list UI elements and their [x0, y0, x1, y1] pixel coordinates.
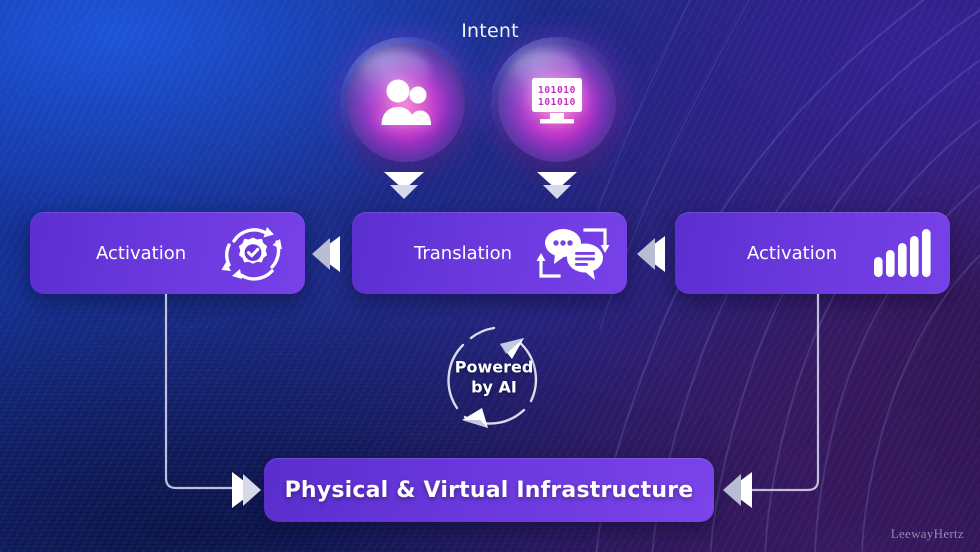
node-translation[interactable]: Translation	[352, 212, 627, 294]
arrow-users-down	[384, 172, 424, 199]
node-activation-right[interactable]: Activation	[675, 212, 950, 294]
arrow-into-infra-left	[232, 472, 261, 508]
sphere-users	[347, 44, 465, 162]
arrow-translation-to-activation-left	[312, 236, 340, 272]
svg-text:101010: 101010	[538, 97, 576, 108]
sphere-machines: 101010 101010	[498, 44, 616, 162]
node-activation-right-label: Activation	[747, 243, 837, 264]
chat-bubbles-translate-icon	[533, 222, 611, 284]
node-activation-left[interactable]: Activation	[30, 212, 305, 294]
intent-label: Intent	[0, 20, 980, 42]
svg-text:101010: 101010	[538, 85, 576, 96]
gear-check-refresh-icon	[217, 221, 289, 285]
powered-by-ai-text: Powered by AI	[432, 358, 556, 399]
users-icon	[375, 77, 437, 129]
connector-activation-right-to-infra	[752, 294, 818, 490]
arrow-machines-down	[537, 172, 577, 199]
monitor-binary-icon: 101010 101010	[526, 75, 588, 131]
arrow-into-infra-right	[723, 472, 752, 508]
arrow-activation-right-to-translation	[637, 236, 665, 272]
watermark: LeewayHertz	[891, 526, 964, 542]
powered-by-ai-line2: by AI	[432, 378, 556, 398]
node-translation-label: Translation	[414, 243, 512, 264]
node-physical-virtual-infrastructure[interactable]: Physical & Virtual Infrastructure	[264, 458, 714, 522]
signal-bars-icon	[872, 227, 934, 279]
powered-by-ai-loop: Powered by AI	[432, 316, 556, 440]
infrastructure-label: Physical & Virtual Infrastructure	[285, 478, 694, 503]
node-activation-left-label: Activation	[96, 243, 186, 264]
powered-by-ai-line1: Powered	[432, 358, 556, 378]
diagram-canvas: Intent 101010 101010 Activation	[0, 0, 980, 552]
connector-activation-left-to-infra	[166, 294, 236, 488]
